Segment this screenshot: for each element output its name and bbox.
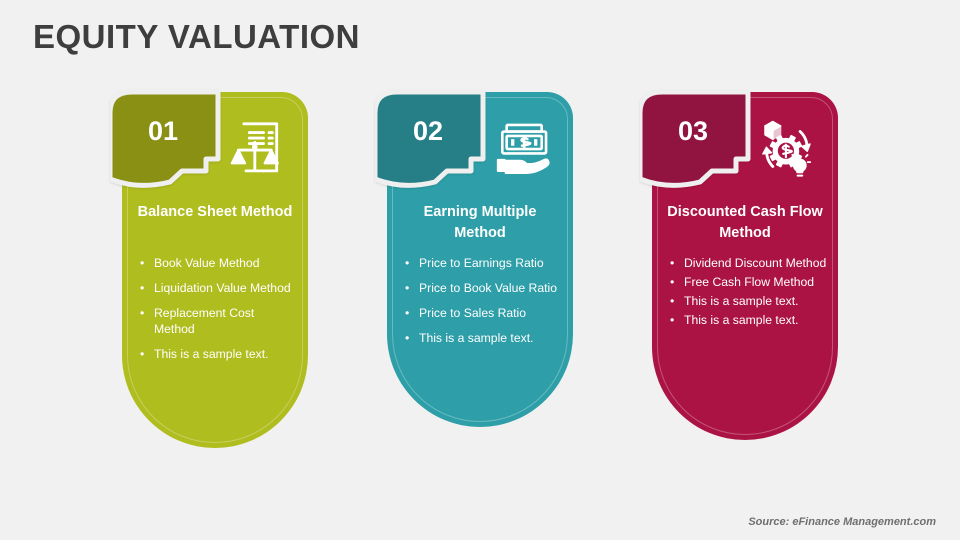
list-item: •This is a sample text. [140, 346, 298, 362]
bullet-glyph: • [405, 255, 409, 271]
hand-holding-money-icon [487, 114, 557, 184]
list-item-label: Dividend Discount Method [684, 256, 826, 270]
bullet-glyph: • [405, 280, 409, 296]
bullet-glyph: • [140, 305, 144, 321]
card-bullet-list: •Dividend Discount Method •Free Cash Flo… [670, 255, 828, 331]
bullet-glyph: • [670, 293, 674, 309]
bullet-glyph: • [140, 346, 144, 362]
list-item: •Free Cash Flow Method [670, 274, 828, 290]
list-item-label: This is a sample text. [419, 331, 533, 345]
list-item-label: Book Value Method [154, 256, 259, 270]
list-item-label: This is a sample text. [684, 294, 798, 308]
list-item-label: This is a sample text. [684, 313, 798, 327]
card-number-label: 02 [413, 116, 443, 146]
list-item: •Price to Earnings Ratio [405, 255, 563, 271]
card-title: Earning Multiple Method [397, 202, 563, 244]
bullet-glyph: • [405, 330, 409, 346]
list-item-label: Price to Book Value Ratio [419, 281, 557, 295]
gear-dollar-cycle-icon [752, 114, 822, 184]
list-item-label: This is a sample text. [154, 347, 268, 361]
list-item: •Dividend Discount Method [670, 255, 828, 271]
list-item: •Liquidation Value Method [140, 280, 298, 296]
list-item-label: Price to Sales Ratio [419, 306, 526, 320]
cards-container: Balance Sheet Method •Book Value Method … [0, 0, 960, 540]
list-item: •This is a sample text. [405, 330, 563, 346]
card-title: Discounted Cash Flow Method [662, 202, 828, 244]
balance-scale-document-icon [222, 114, 292, 184]
list-item: •Price to Sales Ratio [405, 305, 563, 321]
list-item: •Replacement Cost Method [140, 305, 298, 337]
card-number-label: 03 [678, 116, 708, 146]
bullet-glyph: • [670, 312, 674, 328]
list-item: •Book Value Method [140, 255, 298, 271]
source-credit: Source: eFinance Management.com [748, 516, 936, 528]
list-item-label: Replacement Cost Method [154, 306, 254, 336]
list-item-label: Liquidation Value Method [154, 281, 291, 295]
list-item-label: Price to Earnings Ratio [419, 256, 544, 270]
bullet-glyph: • [670, 255, 674, 271]
list-item: •Price to Book Value Ratio [405, 280, 563, 296]
slide-canvas: EQUITY VALUATION Balance Sheet Method •B… [0, 0, 960, 540]
bullet-glyph: • [405, 305, 409, 321]
list-item: •This is a sample text. [670, 312, 828, 328]
card-title: Balance Sheet Method [132, 202, 298, 223]
bullet-glyph: • [140, 280, 144, 296]
bullet-glyph: • [140, 255, 144, 271]
card-bullet-list: •Price to Earnings Ratio •Price to Book … [405, 255, 563, 355]
bullet-glyph: • [670, 274, 674, 290]
list-item-label: Free Cash Flow Method [684, 275, 814, 289]
card-number-label: 01 [148, 116, 178, 146]
list-item: •This is a sample text. [670, 293, 828, 309]
card-bullet-list: •Book Value Method •Liquidation Value Me… [140, 255, 298, 371]
